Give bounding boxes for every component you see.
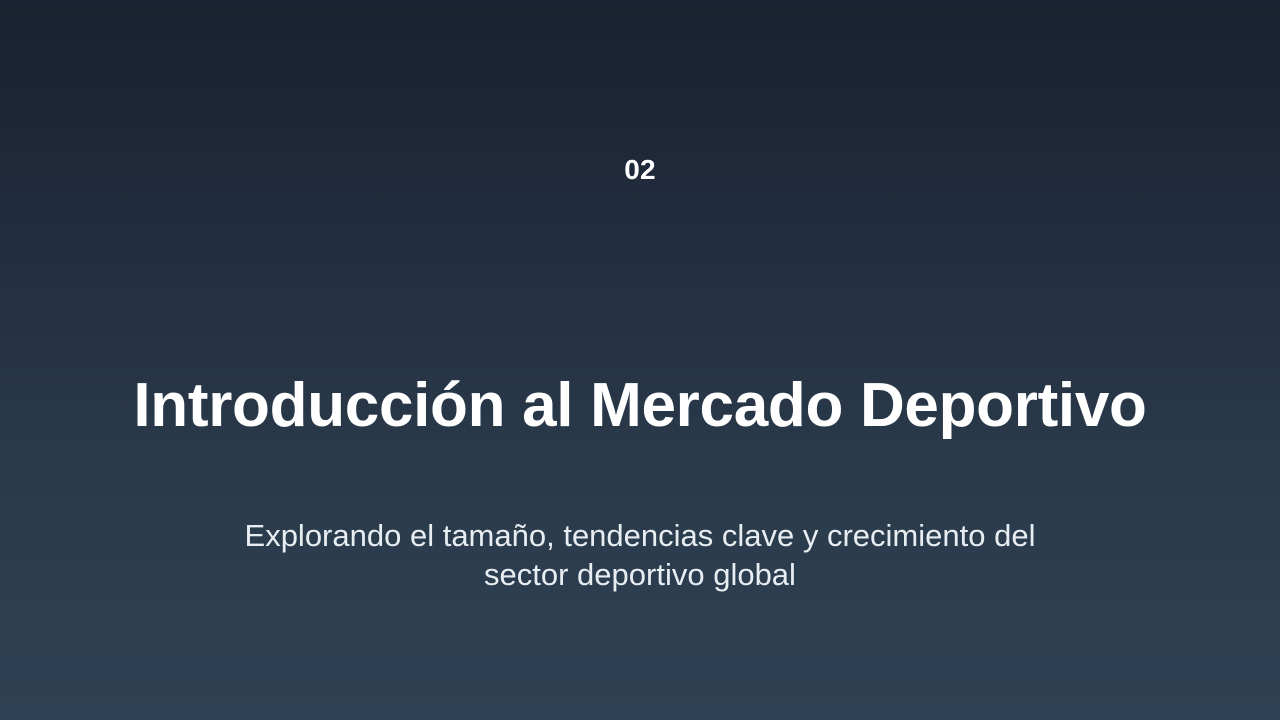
slide-subtitle-line-2: sector deportivo global [0,555,1280,594]
slide-subtitle: Explorando el tamaño, tendencias clave y… [0,0,1280,594]
slide-subtitle-line-1: Explorando el tamaño, tendencias clave y… [0,516,1280,555]
presentation-slide: 02 Introducción al Mercado Deportivo Exp… [0,0,1280,720]
